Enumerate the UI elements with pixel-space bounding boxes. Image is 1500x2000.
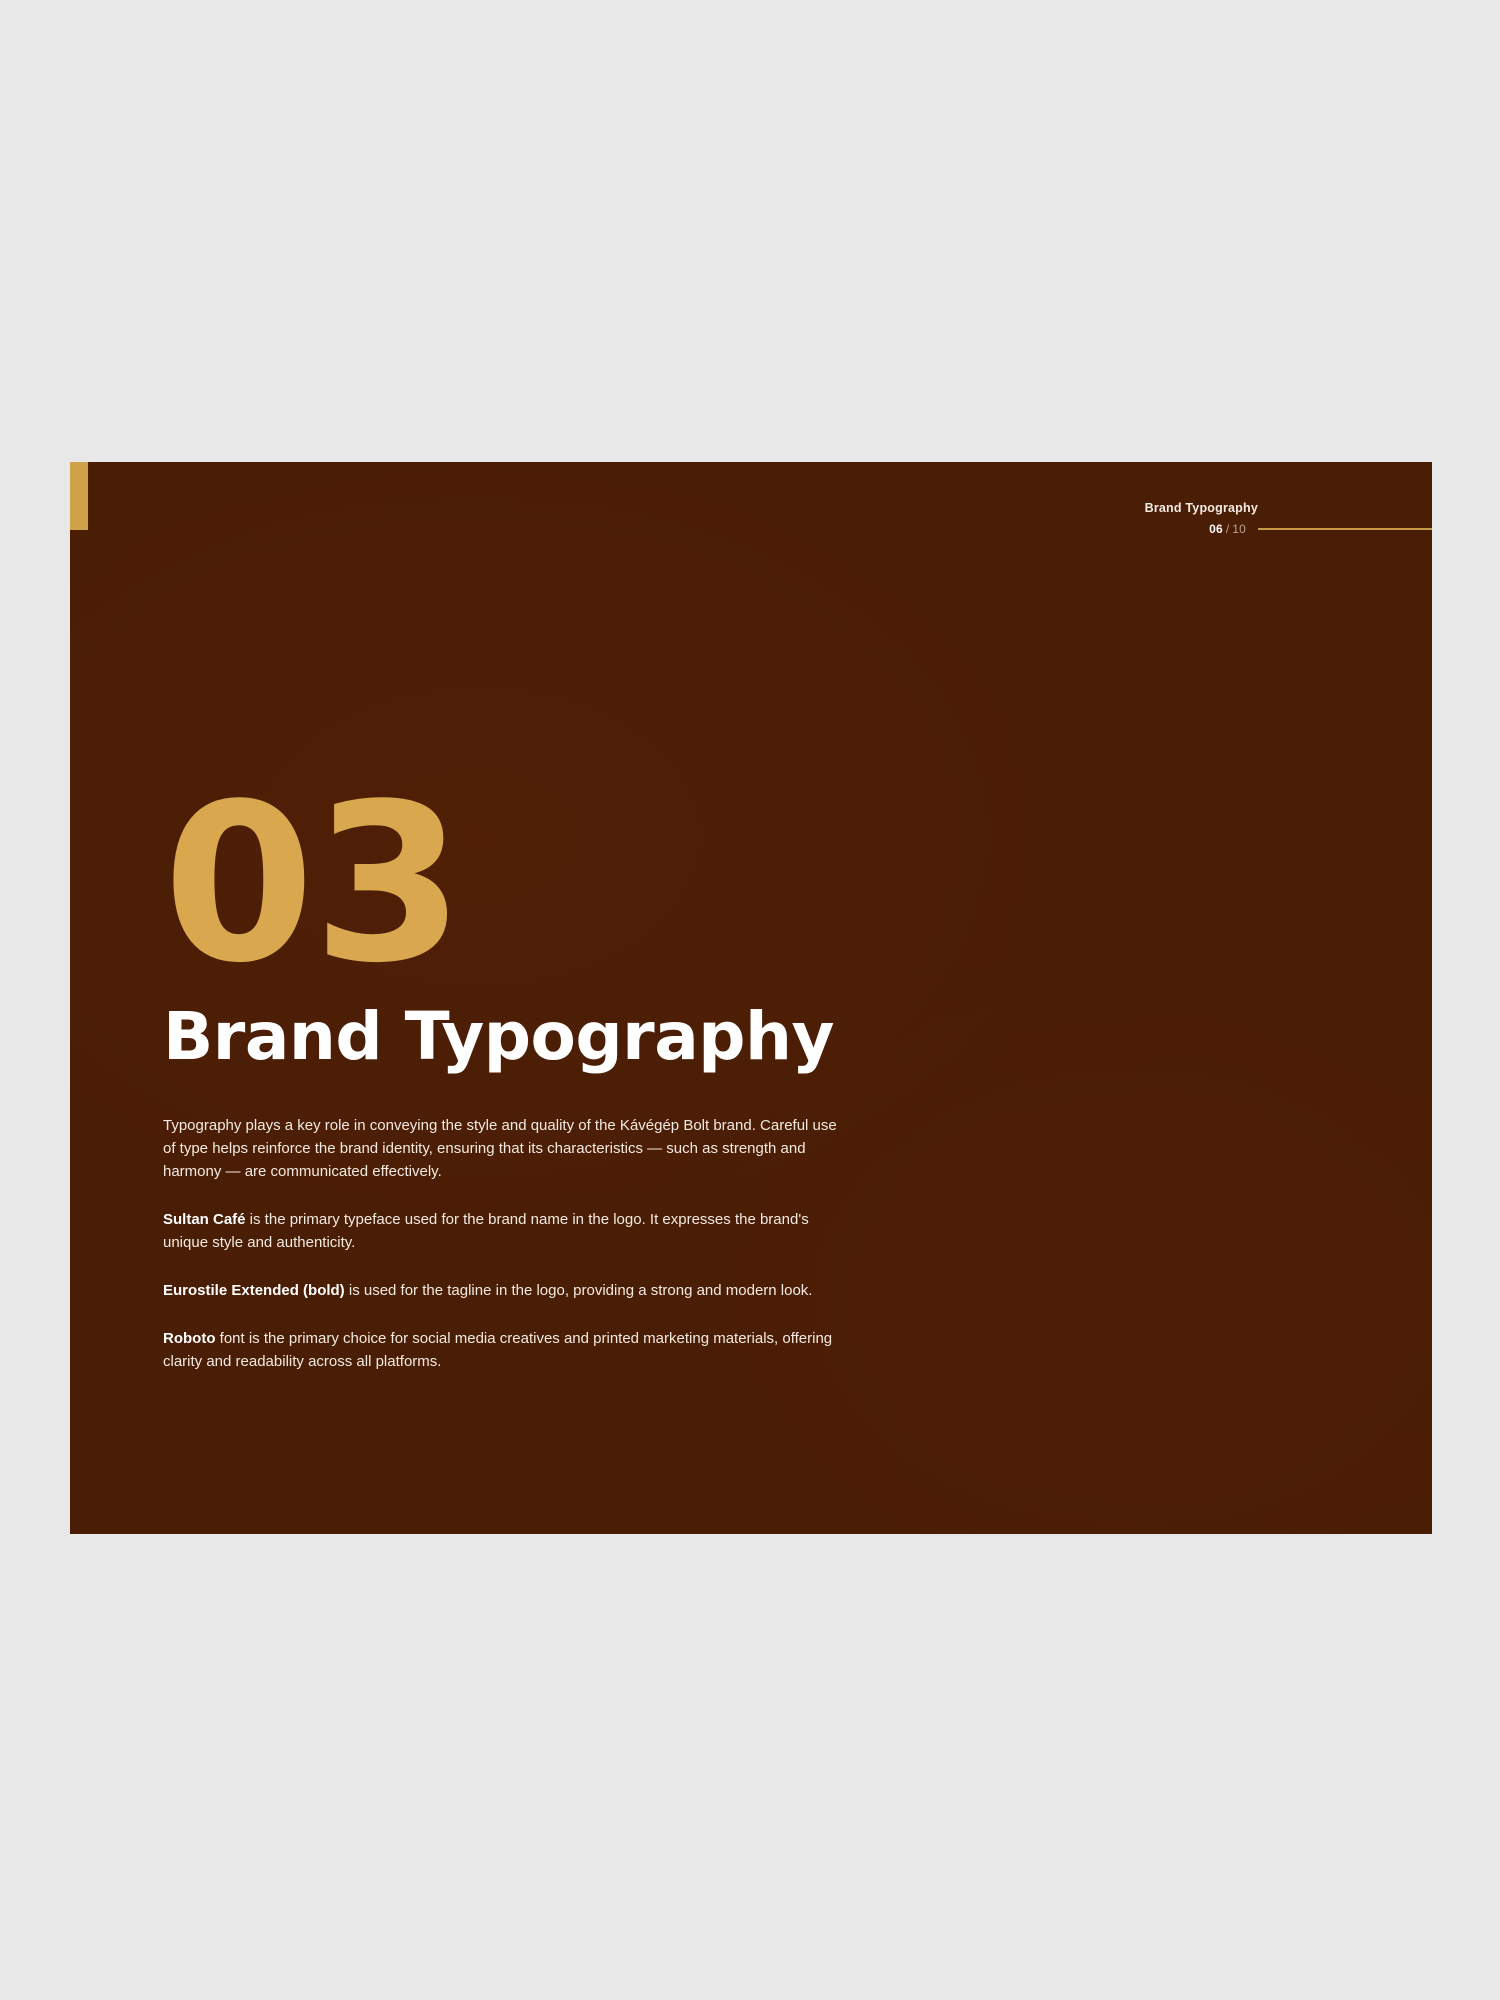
paragraph-text: is the primary typeface used for the bra… bbox=[163, 1211, 809, 1251]
paragraph-lead-term: Sultan Café bbox=[163, 1211, 246, 1228]
slide-header: Brand Typography 06 / 10 bbox=[732, 500, 1432, 536]
page-number-separator: / bbox=[1226, 522, 1229, 536]
slide-content: 03 Brand Typography Typography plays a k… bbox=[163, 802, 903, 1373]
header-section-label: Brand Typography bbox=[732, 500, 1432, 516]
paragraph-text: Typography plays a key role in conveying… bbox=[163, 1117, 837, 1180]
paragraph-lead-term: Eurostile Extended (bold) bbox=[163, 1282, 345, 1299]
page-title: Brand Typography bbox=[163, 1004, 903, 1070]
section-number: 03 bbox=[163, 802, 903, 968]
paragraph-eurostile-extended: Eurostile Extended (bold) is used for th… bbox=[163, 1279, 853, 1302]
paragraph-sultan-cafe: Sultan Café is the primary typeface used… bbox=[163, 1208, 853, 1254]
page-number-total: 10 bbox=[1232, 522, 1246, 536]
body-copy: Typography plays a key role in conveying… bbox=[163, 1114, 853, 1373]
slide-panel: Brand Typography 06 / 10 03 Brand Typogr… bbox=[70, 462, 1432, 1534]
paragraph-lead-term: Roboto bbox=[163, 1330, 215, 1347]
paragraph-intro: Typography plays a key role in conveying… bbox=[163, 1114, 853, 1183]
corner-accent-bar bbox=[70, 462, 88, 530]
paragraph-text: font is the primary choice for social me… bbox=[163, 1330, 832, 1370]
paragraph-roboto: Roboto font is the primary choice for so… bbox=[163, 1327, 853, 1373]
page-canvas: Brand Typography 06 / 10 03 Brand Typogr… bbox=[0, 0, 1500, 2000]
page-indicator: 06 / 10 bbox=[732, 522, 1432, 536]
page-number-current: 06 bbox=[1209, 522, 1223, 536]
header-rule-line bbox=[1258, 528, 1432, 530]
paragraph-text: is used for the tagline in the logo, pro… bbox=[345, 1282, 813, 1299]
